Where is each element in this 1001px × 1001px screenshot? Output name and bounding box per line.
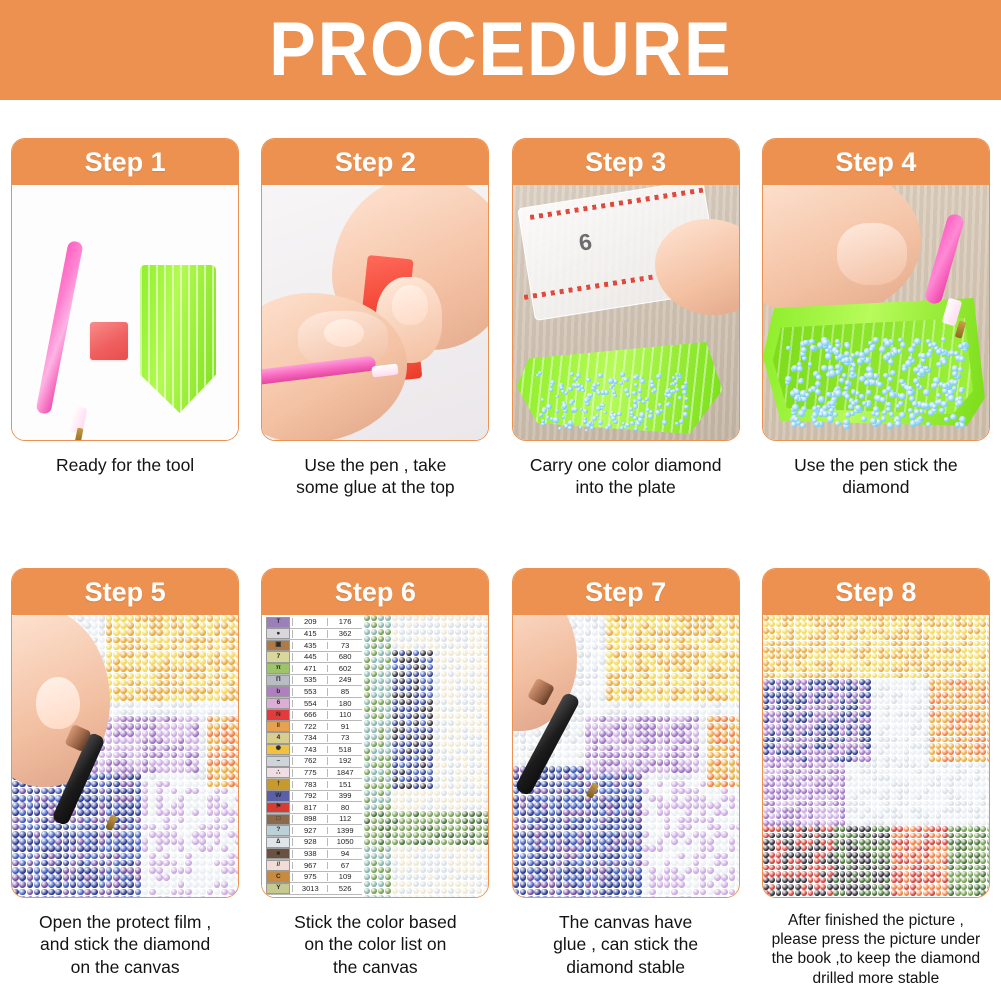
legend-color-code: 975	[292, 873, 327, 881]
color-legend-row: ?9271399	[266, 825, 362, 837]
legend-symbol-swatch: ‖	[266, 721, 290, 732]
color-legend-row: W792399	[266, 791, 362, 803]
legend-color-code: 792	[292, 792, 327, 800]
step-cell-8: Step 8 After finished the picture , plea…	[751, 568, 1001, 988]
caption-line: into the plate	[512, 476, 740, 498]
legend-symbol-swatch: 4	[266, 732, 290, 743]
legend-color-code: 471	[292, 665, 327, 673]
step-card-7[interactable]: Step 7	[512, 568, 740, 898]
legend-symbol-swatch: T	[266, 617, 290, 628]
legend-symbol-swatch: ?	[266, 825, 290, 836]
color-legend-row: //96767	[266, 860, 362, 872]
step-card-1[interactable]: Step 1	[11, 138, 239, 441]
step-caption-4: Use the pen stick the diamond	[762, 454, 990, 499]
legend-color-code: 435	[292, 642, 327, 650]
legend-color-count: 73	[327, 734, 362, 742]
legend-color-code: 898	[292, 815, 327, 823]
page-header-banner: PROCEDURE	[0, 0, 1001, 100]
step-caption-2: Use the pen , take some glue at the top	[261, 454, 489, 499]
caption-line: the canvas	[261, 956, 489, 978]
color-legend-row: ⚑81780	[266, 802, 362, 814]
step-label-5: Step 5	[85, 579, 166, 606]
color-legend-row: ✺743518	[266, 744, 362, 756]
legend-color-count: 112	[327, 815, 362, 823]
legend-color-count: 680	[327, 653, 362, 661]
legend-color-count: 1847	[327, 769, 362, 777]
legend-color-code: 762	[292, 757, 327, 765]
legend-color-count: 602	[327, 665, 362, 673]
step-image-2	[262, 185, 488, 440]
legend-symbol-swatch: N	[266, 709, 290, 720]
legend-color-code: 553	[292, 688, 327, 696]
legend-symbol-swatch: 6	[266, 698, 290, 709]
canvas-sticking-photo	[12, 615, 238, 897]
page-title: PROCEDURE	[269, 12, 732, 88]
diamond-canvas-mosaic	[763, 615, 989, 897]
caption-line: glue , can stick the	[512, 933, 740, 955]
legend-color-code: 734	[292, 734, 327, 742]
step-label-6: Step 6	[335, 579, 416, 606]
legend-color-count: 151	[327, 781, 362, 789]
step-header-1: Step 1	[12, 139, 238, 185]
caption-line: Stick the color based	[261, 911, 489, 933]
legend-color-code: 783	[292, 781, 327, 789]
legend-symbol-swatch: □	[266, 814, 290, 825]
color-legend-row: ‖72291	[266, 721, 362, 733]
legend-color-count: 192	[327, 757, 362, 765]
legend-color-code: 3013	[292, 885, 327, 893]
step-label-1: Step 1	[85, 149, 166, 176]
tool-set-photo	[12, 185, 238, 440]
step-label-4: Step 4	[835, 149, 916, 176]
step-image-6: T209176●415362▣435737445680π471602Π53524…	[262, 615, 488, 897]
legend-color-count: 91	[327, 723, 362, 731]
legend-color-count: 362	[327, 630, 362, 638]
caption-line: on the color list on	[261, 933, 489, 955]
color-legend-row: 7445680	[266, 652, 362, 664]
step-card-8[interactable]: Step 8	[762, 568, 990, 898]
color-legend-row: ●415362	[266, 629, 362, 641]
legend-symbol-swatch: ✺	[266, 744, 290, 755]
legend-color-count: 85	[327, 688, 362, 696]
legend-symbol-swatch: π	[266, 663, 290, 674]
step-image-5	[12, 615, 238, 897]
canvas-progress-photo	[364, 615, 488, 897]
legend-symbol-swatch: W	[266, 790, 290, 801]
step-image-7	[513, 615, 739, 897]
step-caption-7: The canvas have glue , can stick the dia…	[512, 911, 740, 978]
step-card-4[interactable]: Step 4	[762, 138, 990, 441]
step-caption-1: Ready for the tool	[11, 454, 239, 476]
step-label-8: Step 8	[835, 579, 916, 606]
caption-line: After finished the picture ,	[762, 911, 990, 930]
legend-color-count: 526	[327, 885, 362, 893]
legend-color-code: 743	[292, 746, 327, 754]
legend-symbol-swatch: 7	[266, 651, 290, 662]
finger-icon	[837, 223, 907, 285]
glue-square-icon	[90, 322, 128, 360]
step-label-2: Step 2	[335, 149, 416, 176]
caption-line: Use the pen stick the	[762, 454, 990, 476]
caption-line: Open the protect film ,	[11, 911, 239, 933]
legend-color-count: 1399	[327, 827, 362, 835]
step-cell-1: Step 1 Ready for the tool	[0, 138, 250, 543]
step-header-4: Step 4	[763, 139, 989, 185]
finished-canvas-photo	[763, 615, 989, 897]
legend-color-code: 535	[292, 676, 327, 684]
diamond-canvas-mosaic	[364, 615, 488, 897]
pick-diamond-photo	[763, 185, 989, 440]
color-legend-row: ▣43573	[266, 640, 362, 652]
step-caption-6: Stick the color based on the color list …	[261, 911, 489, 978]
pink-pen-icon	[36, 240, 84, 415]
color-legend-table: T209176●415362▣435737445680π471602Π53524…	[262, 615, 364, 897]
step-label-3: Step 3	[585, 149, 666, 176]
steps-row-bottom: Step 5 Open the protect film , and stick…	[0, 568, 1001, 988]
color-legend-row: 6554180	[266, 698, 362, 710]
caption-line: Use the pen , take	[261, 454, 489, 476]
legend-color-code: 722	[292, 723, 327, 731]
step-cell-7: Step 7 The canvas have glue , can stick …	[501, 568, 751, 988]
step-image-3: 6	[513, 185, 739, 440]
step-header-7: Step 7	[513, 569, 739, 615]
legend-color-count: 1050	[327, 838, 362, 846]
legend-symbol-swatch: ∴	[266, 767, 290, 778]
legend-symbol-swatch: //	[266, 860, 290, 871]
legend-color-code: 445	[292, 653, 327, 661]
legend-color-count: 73	[327, 642, 362, 650]
glue-canvas-photo	[513, 615, 739, 897]
color-legend-row: ∴7751847	[266, 768, 362, 780]
caption-line: diamond stable	[512, 956, 740, 978]
caption-line: The canvas have	[512, 911, 740, 933]
step-header-3: Step 3	[513, 139, 739, 185]
legend-color-count: 94	[327, 850, 362, 858]
legend-color-count: 249	[327, 676, 362, 684]
legend-color-count: 80	[327, 804, 362, 812]
caption-line: drilled more stable	[762, 969, 990, 988]
step-card-3[interactable]: Step 3 6	[512, 138, 740, 441]
caption-line: the book ,to keep the diamond	[762, 949, 990, 968]
color-legend-row: –762192	[266, 756, 362, 768]
legend-color-code: 938	[292, 850, 327, 858]
step-image-4	[763, 185, 989, 440]
legend-color-count: 176	[327, 618, 362, 626]
color-legend-row: □898112	[266, 814, 362, 826]
color-legend-row: Y3013526	[266, 883, 362, 895]
pen-glue-photo	[262, 185, 488, 440]
legend-color-code: 666	[292, 711, 327, 719]
step-cell-2: Step 2	[250, 138, 500, 543]
legend-symbol-swatch: †	[266, 779, 290, 790]
color-legend-row: T209176	[266, 617, 362, 629]
color-legend-row: †783151	[266, 779, 362, 791]
legend-color-count: 399	[327, 792, 362, 800]
step-caption-3: Carry one color diamond into the plate	[512, 454, 740, 499]
legend-symbol-swatch: ∆	[266, 837, 290, 848]
step-header-8: Step 8	[763, 569, 989, 615]
color-legend-row: b55385	[266, 686, 362, 698]
legend-color-count: 518	[327, 746, 362, 754]
legend-color-count: 180	[327, 700, 362, 708]
pour-diamonds-photo: 6	[513, 185, 739, 440]
legend-symbol-swatch: ■	[266, 848, 290, 859]
step-card-5[interactable]: Step 5	[11, 568, 239, 898]
step-card-6[interactable]: Step 6 T209176●415362▣435737445680π47160…	[261, 568, 489, 898]
legend-symbol-swatch: C	[266, 871, 290, 882]
legend-color-count: 110	[327, 711, 362, 719]
color-legend-row: C975109	[266, 872, 362, 884]
caption-line: please press the picture under	[762, 930, 990, 949]
step-label-7: Step 7	[585, 579, 666, 606]
caption-line: on the canvas	[11, 956, 239, 978]
step-caption-5: Open the protect film , and stick the di…	[11, 911, 239, 978]
fingernail-icon	[36, 677, 80, 729]
legend-color-count: 109	[327, 873, 362, 881]
step-card-2[interactable]: Step 2	[261, 138, 489, 441]
steps-row-top: Step 1 Ready for the tool Step	[0, 138, 1001, 543]
step-header-6: Step 6	[262, 569, 488, 615]
procedure-infographic: PROCEDURE Step 1 Ready for	[0, 0, 1001, 1001]
legend-color-code: 209	[292, 618, 327, 626]
legend-color-code: 775	[292, 769, 327, 777]
step-header-2: Step 2	[262, 139, 488, 185]
legend-color-code: 415	[292, 630, 327, 638]
fingernail-icon	[392, 285, 428, 325]
legend-symbol-swatch: Y	[266, 883, 290, 894]
legend-color-code: 927	[292, 827, 327, 835]
caption-line: some glue at the top	[261, 476, 489, 498]
color-legend-row: π471602	[266, 663, 362, 675]
step-cell-5: Step 5 Open the protect film , and stick…	[0, 568, 250, 988]
step-image-1	[12, 185, 238, 440]
green-tray-icon	[140, 265, 216, 413]
legend-color-code: 817	[292, 804, 327, 812]
legend-symbol-swatch: ▣	[266, 640, 290, 651]
step-caption-8: After finished the picture , please pres…	[762, 911, 990, 988]
step-cell-3: Step 3 6 Carr	[501, 138, 751, 543]
caption-line: and stick the diamond	[11, 933, 239, 955]
color-legend-row: Π535249	[266, 675, 362, 687]
step-cell-4: Step 4	[751, 138, 1001, 543]
color-list-photo: T209176●415362▣435737445680π471602Π53524…	[262, 615, 488, 897]
step-header-5: Step 5	[12, 569, 238, 615]
legend-symbol-swatch: b	[266, 686, 290, 697]
legend-symbol-swatch: Π	[266, 675, 290, 686]
color-legend-row: ■93894	[266, 849, 362, 861]
legend-symbol-swatch: –	[266, 756, 290, 767]
color-legend-row: N666110	[266, 710, 362, 722]
legend-color-count: 67	[327, 862, 362, 870]
color-legend-row: 473473	[266, 733, 362, 745]
legend-color-code: 967	[292, 862, 327, 870]
legend-color-code: 554	[292, 700, 327, 708]
caption-line: Carry one color diamond	[512, 454, 740, 476]
step-cell-6: Step 6 T209176●415362▣435737445680π47160…	[250, 568, 500, 988]
caption-line: diamond	[762, 476, 990, 498]
step-image-8	[763, 615, 989, 897]
legend-symbol-swatch: ⚑	[266, 802, 290, 813]
legend-color-code: 928	[292, 838, 327, 846]
legend-symbol-swatch: ●	[266, 628, 290, 639]
color-legend-row: ∆9281050	[266, 837, 362, 849]
